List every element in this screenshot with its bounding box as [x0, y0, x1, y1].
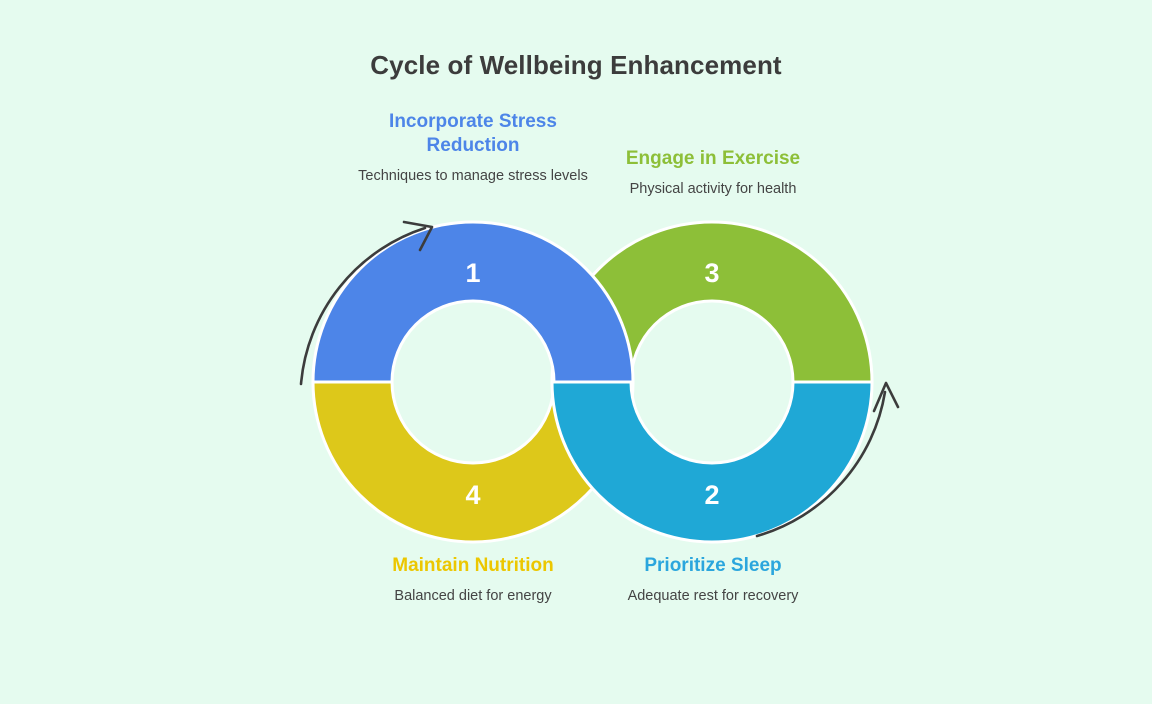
step-title-3: Engage in Exercise [598, 147, 828, 171]
ring-segment-2-cyan[interactable] [552, 382, 872, 542]
step-description-2: Adequate rest for recovery [598, 578, 828, 606]
step-description-3: Physical activity for health [598, 171, 828, 199]
segment-number-2: 2 [704, 480, 719, 510]
step-label-3[interactable]: Engage in Exercise Physical activity for… [598, 147, 828, 199]
step-title-1: Incorporate Stress Reduction [358, 110, 588, 158]
segment-number-1: 1 [465, 258, 480, 288]
segment-number-3: 3 [704, 258, 719, 288]
infographic-canvas: Cycle of Wellbeing Enhancement 1 3 4 2 I… [0, 0, 1152, 704]
step-title-2: Prioritize Sleep [598, 554, 828, 578]
step-title-4: Maintain Nutrition [358, 554, 588, 578]
step-description-4: Balanced diet for energy [358, 578, 588, 606]
step-label-4[interactable]: Maintain Nutrition Balanced diet for ene… [358, 554, 588, 606]
ring-segment-1-blue[interactable] [313, 222, 633, 382]
step-description-1: Techniques to manage stress levels [358, 158, 588, 186]
segment-number-4: 4 [465, 480, 480, 510]
step-label-2[interactable]: Prioritize Sleep Adequate rest for recov… [598, 554, 828, 606]
step-label-1[interactable]: Incorporate Stress Reduction Techniques … [358, 110, 588, 186]
